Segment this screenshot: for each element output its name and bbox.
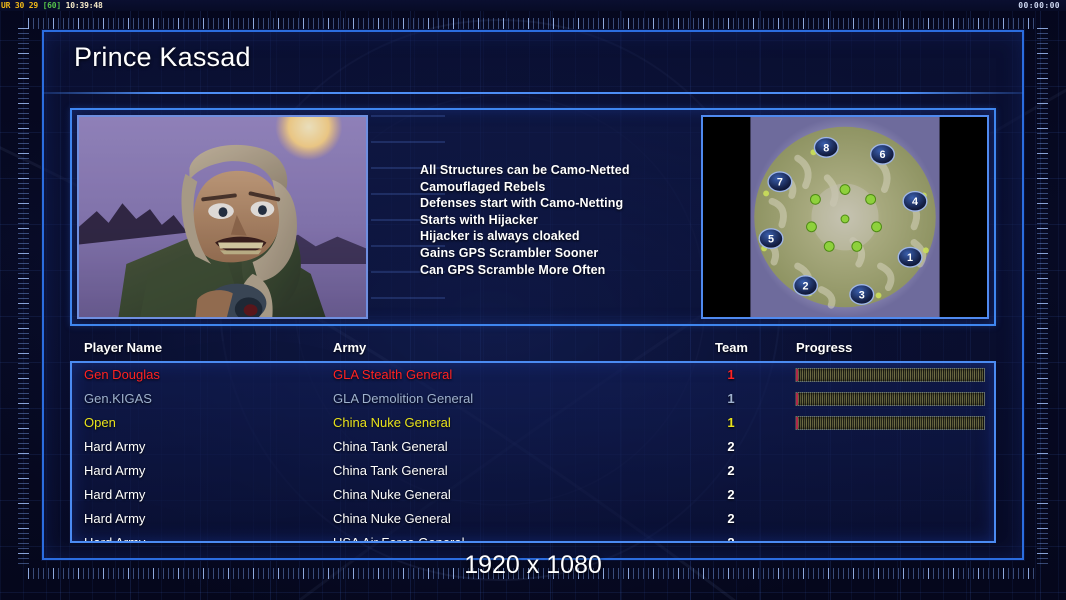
army-cell[interactable]: China Tank General [333, 435, 448, 459]
army-cell[interactable]: China Nuke General [333, 483, 451, 507]
player-name-cell[interactable]: Hard Army [84, 459, 145, 483]
game-lobby-screen: UR 30 29 [60] 10:39:48 00:00:00 Prince K… [0, 0, 1066, 600]
map-start-position: 2 [794, 276, 818, 296]
bonus-line: Camouflaged Rebels [420, 179, 720, 196]
player-table-header: Player Name Army Team Progress [70, 340, 996, 362]
page-title: Prince Kassad [74, 42, 251, 73]
status-bar-left: UR 30 29 [60] 10:39:48 [1, 0, 103, 11]
header-progress: Progress [796, 340, 852, 355]
bonus-line: Hijacker is always cloaked [420, 228, 720, 245]
army-cell[interactable]: China Nuke General [333, 411, 451, 435]
team-cell[interactable]: 2 [719, 483, 743, 507]
general-bonus-list: All Structures can be Camo-Netted Camouf… [420, 162, 720, 278]
army-cell[interactable]: China Nuke General [333, 507, 451, 531]
lobby-window: Prince Kassad [42, 30, 1024, 560]
army-cell[interactable]: GLA Stealth General [333, 363, 452, 387]
resolution-label: 1920 x 1080 [0, 551, 1066, 580]
player-name-cell[interactable]: Hard Army [84, 531, 145, 543]
svg-text:4: 4 [912, 196, 918, 208]
bonus-line: Starts with Hijacker [420, 212, 720, 229]
player-name-cell[interactable]: Hard Army [84, 483, 145, 507]
bonus-line: Defenses start with Camo-Netting [420, 195, 720, 212]
svg-text:5: 5 [768, 234, 774, 246]
ruler-top [28, 18, 1038, 29]
svg-text:2: 2 [803, 281, 809, 293]
status-bar: UR 30 29 [60] 10:39:48 00:00:00 [0, 0, 1066, 11]
team-cell[interactable]: 2 [719, 507, 743, 531]
bonus-line: Can GPS Scramble More Often [420, 262, 720, 279]
player-name-cell[interactable]: Hard Army [84, 507, 145, 531]
fps-counter: UR 30 29 [1, 1, 38, 10]
ruler-right [1037, 28, 1048, 568]
player-list[interactable]: Gen DouglasGLA Stealth General1Gen.KIGAS… [70, 361, 996, 543]
header-army: Army [333, 340, 366, 355]
svg-text:7: 7 [777, 177, 783, 189]
team-cell[interactable]: 2 [719, 435, 743, 459]
army-cell[interactable]: GLA Demolition General [333, 387, 473, 411]
team-cell[interactable]: 2 [719, 459, 743, 483]
map-start-position: 5 [759, 229, 783, 249]
map-start-position: 7 [768, 172, 792, 192]
map-start-position: 1 [898, 247, 922, 267]
map-start-position: 3 [850, 285, 874, 305]
table-row[interactable]: Hard ArmyChina Tank General2 [72, 435, 994, 459]
map-start-position: 8 [814, 138, 838, 158]
table-row[interactable]: Gen.KIGASGLA Demolition General1 [72, 387, 994, 411]
team-cell[interactable]: 2 [719, 531, 743, 543]
table-row[interactable]: Hard ArmyChina Tank General2 [72, 459, 994, 483]
table-row[interactable]: Hard ArmyChina Nuke General2 [72, 483, 994, 507]
progress-bar [795, 368, 985, 382]
memory-counter: [60] [43, 1, 61, 10]
player-name-cell[interactable]: Gen Douglas [84, 363, 160, 387]
general-info-panel: All Structures can be Camo-Netted Camouf… [70, 108, 996, 326]
player-name-cell[interactable]: Hard Army [84, 435, 145, 459]
title-bar: Prince Kassad [42, 30, 1024, 94]
team-cell[interactable]: 1 [719, 411, 743, 435]
player-name-cell[interactable]: Open [84, 411, 116, 435]
progress-bar [795, 392, 985, 406]
game-timer: 00:00:00 [1018, 0, 1060, 11]
table-row[interactable]: OpenChina Nuke General1 [72, 411, 994, 435]
header-team: Team [715, 340, 748, 355]
header-player-name: Player Name [84, 340, 162, 355]
svg-text:6: 6 [879, 149, 885, 161]
ruler-left [18, 28, 29, 568]
map-start-position: 4 [903, 192, 927, 212]
bonus-line: All Structures can be Camo-Netted [420, 162, 720, 179]
clock-readout: 10:39:48 [66, 1, 103, 10]
svg-text:1: 1 [907, 252, 913, 264]
general-portrait [77, 115, 368, 319]
player-name-cell[interactable]: Gen.KIGAS [84, 387, 152, 411]
svg-text:3: 3 [859, 289, 865, 301]
map-start-position: 6 [871, 144, 895, 164]
team-cell[interactable]: 1 [719, 387, 743, 411]
svg-text:8: 8 [823, 142, 829, 154]
army-cell[interactable]: USA Air Force General [333, 531, 465, 543]
table-row[interactable]: Hard ArmyUSA Air Force General2 [72, 531, 994, 543]
bonus-line: Gains GPS Scrambler Sooner [420, 245, 720, 262]
map-preview[interactable]: 1 2 3 4 5 6 7 8 [701, 115, 989, 319]
table-row[interactable]: Hard ArmyChina Nuke General2 [72, 507, 994, 531]
table-row[interactable]: Gen DouglasGLA Stealth General1 [72, 363, 994, 387]
team-cell[interactable]: 1 [719, 363, 743, 387]
progress-bar [795, 416, 985, 430]
army-cell[interactable]: China Tank General [333, 459, 448, 483]
